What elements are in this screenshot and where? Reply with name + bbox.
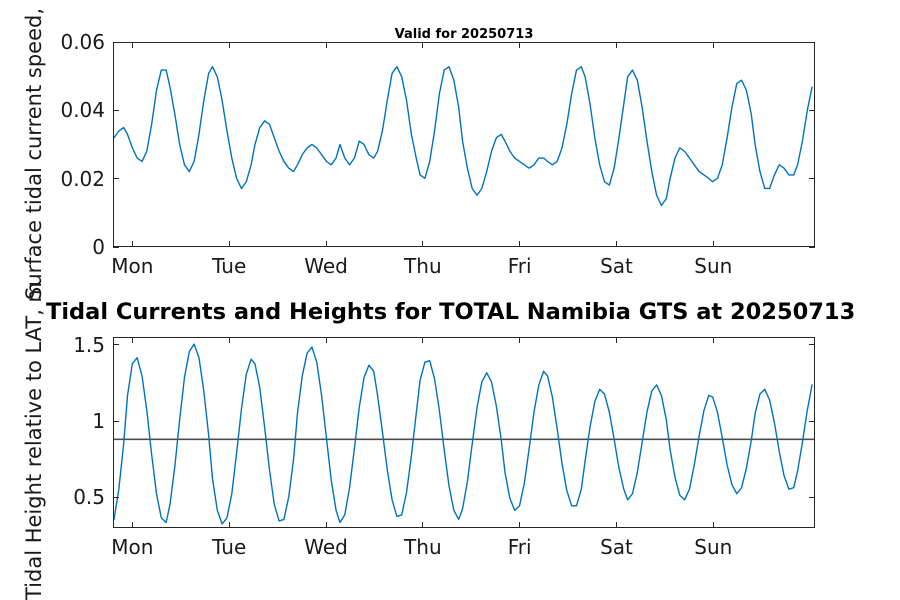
- page-title: Tidal Currents and Heights for TOTAL Nam…: [46, 299, 900, 325]
- x-tick-mark: [229, 42, 230, 48]
- y-tick-label: 1: [7, 409, 105, 433]
- y-tick-label: 0.5: [7, 485, 105, 509]
- y-tick-mark: [809, 178, 815, 179]
- x-tick-mark: [519, 241, 520, 247]
- x-tick-mark: [422, 241, 423, 247]
- x-tick-mark: [229, 337, 230, 343]
- y-tick-label: 0.04: [7, 98, 105, 122]
- x-tick-mark: [519, 42, 520, 48]
- x-tick-mark: [132, 241, 133, 247]
- x-tick-mark: [616, 42, 617, 48]
- x-tick-label: Tue: [212, 254, 246, 278]
- x-tick-label: Thu: [404, 535, 442, 559]
- x-tick-mark: [132, 42, 133, 48]
- x-tick-mark: [713, 522, 714, 528]
- y-tick-mark: [809, 42, 815, 43]
- x-tick-mark: [326, 337, 327, 343]
- y-tick-mark: [113, 497, 119, 498]
- x-tick-mark: [132, 522, 133, 528]
- x-tick-mark: [229, 241, 230, 247]
- y-tick-label: 0.06: [7, 30, 105, 54]
- x-tick-mark: [326, 42, 327, 48]
- current-speed-line-svg: [114, 43, 814, 246]
- x-tick-label: Tue: [212, 535, 246, 559]
- x-tick-mark: [326, 241, 327, 247]
- x-tick-label: Mon: [111, 254, 153, 278]
- y-tick-mark: [809, 421, 815, 422]
- x-tick-mark: [616, 337, 617, 343]
- x-tick-label: Mon: [111, 535, 153, 559]
- y-tick-mark: [113, 110, 119, 111]
- x-tick-label: Fri: [508, 535, 532, 559]
- x-tick-mark: [713, 241, 714, 247]
- x-tick-label: Thu: [404, 254, 442, 278]
- y-tick-mark: [113, 421, 119, 422]
- x-tick-mark: [229, 522, 230, 528]
- x-tick-mark: [326, 522, 327, 528]
- x-tick-label: Sat: [600, 535, 633, 559]
- subplot-top-title: Valid for 20250713: [113, 27, 815, 42]
- x-tick-label: Wed: [304, 254, 348, 278]
- y-tick-label: 1.5: [7, 333, 105, 357]
- y-tick-mark: [113, 247, 119, 248]
- x-tick-mark: [616, 241, 617, 247]
- y-tick-mark: [113, 344, 119, 345]
- y-tick-mark: [809, 344, 815, 345]
- y-tick-mark: [809, 247, 815, 248]
- x-tick-label: Sun: [694, 535, 732, 559]
- x-tick-label: Sat: [600, 254, 633, 278]
- current-speed-plot-area: [113, 42, 815, 247]
- x-tick-mark: [519, 522, 520, 528]
- x-tick-mark: [422, 337, 423, 343]
- x-tick-mark: [519, 337, 520, 343]
- y-tick-mark: [113, 178, 119, 179]
- x-tick-mark: [616, 522, 617, 528]
- x-tick-mark: [132, 337, 133, 343]
- x-tick-label: Wed: [304, 535, 348, 559]
- tidal-height-line-svg: [114, 338, 814, 527]
- x-tick-mark: [422, 522, 423, 528]
- tidal-figure: Valid for 20250713 Surface tidal current…: [0, 0, 900, 600]
- x-tick-mark: [713, 42, 714, 48]
- tidal-height-series-line: [114, 344, 812, 524]
- y-tick-mark: [113, 42, 119, 43]
- x-tick-label: Fri: [508, 254, 532, 278]
- y-tick-mark: [809, 110, 815, 111]
- y-tick-mark: [809, 497, 815, 498]
- x-tick-mark: [422, 42, 423, 48]
- current-speed-series-line: [114, 67, 812, 206]
- y-tick-label: 0: [7, 235, 105, 259]
- y-tick-label: 0.02: [7, 167, 105, 191]
- x-tick-mark: [713, 337, 714, 343]
- tidal-height-plot-area: [113, 337, 815, 528]
- x-tick-label: Sun: [694, 254, 732, 278]
